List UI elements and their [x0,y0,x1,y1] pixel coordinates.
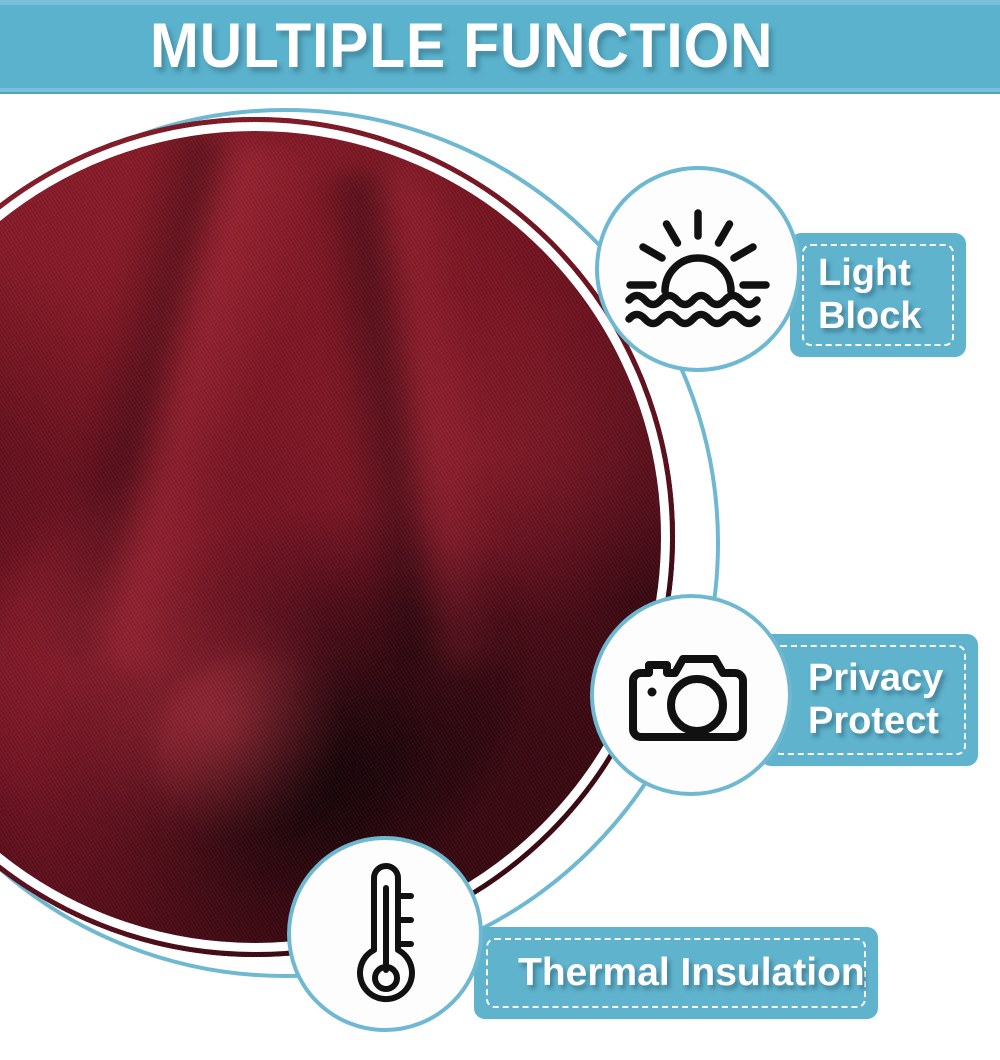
sun-over-water-icon [624,199,772,339]
feature-label-text: Privacy Protect [760,634,978,766]
feature-label-text: Thermal Insulation [474,927,878,1019]
feature-icon-bubble-light-block [595,166,801,372]
page-title: MULTIPLE FUNCTION [150,6,820,86]
thermometer-icon [343,862,427,1006]
product-photo [0,117,675,957]
feature-label-light-block: Light Block [790,233,966,357]
infographic-page: MULTIPLE FUNCTION Light Block [0,0,1000,1060]
feature-icon-bubble-privacy-protect [590,594,792,796]
banner-bottom-rule [0,92,1000,94]
feature-label-thermal-insulation: Thermal Insulation [474,927,878,1019]
feature-label-text: Light Block [790,233,966,357]
feature-icon-bubble-thermal-insulation [287,836,483,1032]
camera-icon [627,643,755,747]
header-banner: MULTIPLE FUNCTION [0,0,1000,94]
feature-label-privacy-protect: Privacy Protect [760,634,978,766]
banner-top-highlight [0,0,1000,5]
